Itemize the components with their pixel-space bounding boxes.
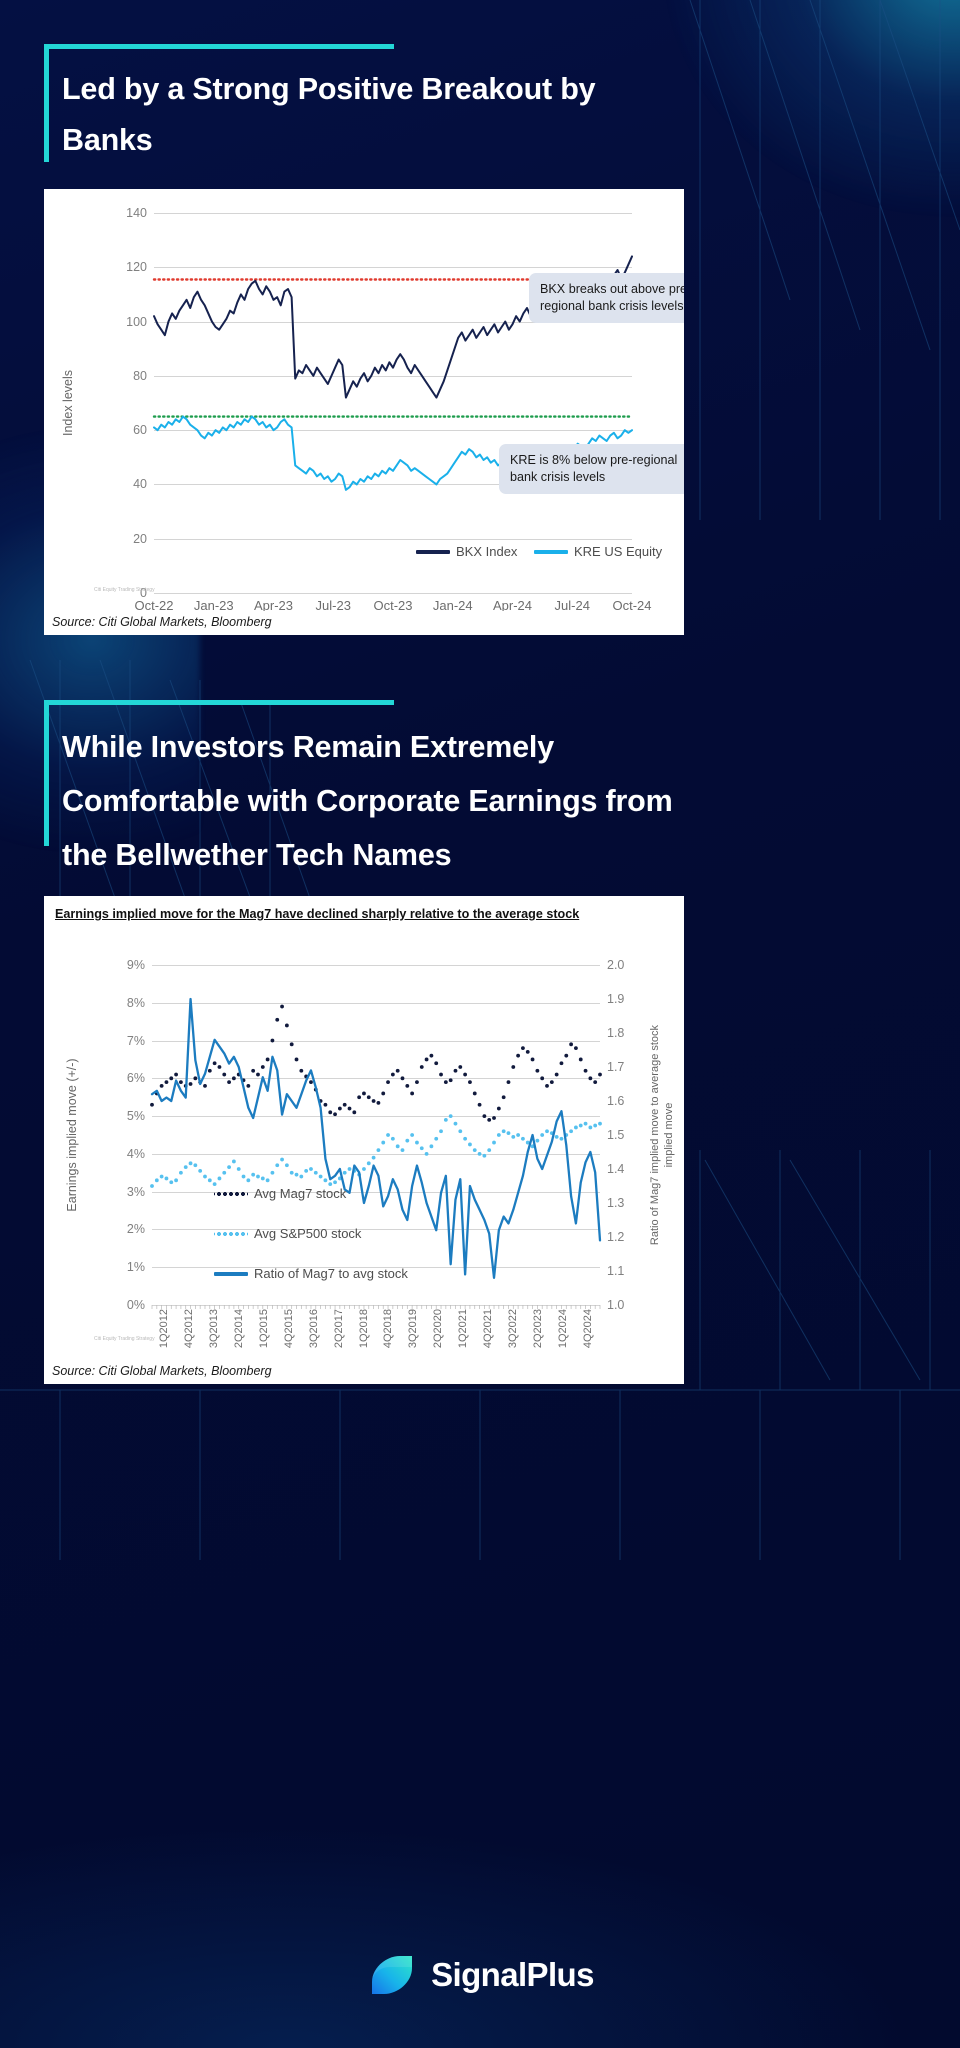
y-tick-label-right: 1.4 [607,1162,624,1176]
headline-accent-top-1 [44,44,394,49]
x-tick-label: 1Q2021 [457,1309,469,1348]
y-tick-label-right: 1.3 [607,1196,624,1210]
legend-label-avg-mag7: Avg Mag7 stock [254,1186,346,1201]
y-tick-label-right: 2.0 [607,958,624,972]
y-tick-label-right: 1.6 [607,1094,624,1108]
x-tick-label: 2Q2023 [532,1309,544,1348]
x-tick-label: 1Q2018 [358,1309,370,1348]
y-tick-label: 6% [127,1071,145,1085]
legend-label-ratio: Ratio of Mag7 to avg stock [254,1266,408,1281]
chart-card-bkx-kre: 020406080100120140 Oct-22Jan-23Apr-23Jul… [44,189,684,635]
chart-2-watermark: Citi Equity Trading Strategy [94,1336,155,1343]
legend-label-bkx: BKX Index [456,544,517,559]
y-tick-label-right: 1.8 [607,1026,624,1040]
chart-1-source: Source: Citi Global Markets, Bloomberg [44,611,684,635]
x-tick-label: 1Q2015 [258,1309,270,1348]
chart-2-y-axis-label-left: Earnings implied move (+/-) [65,1058,79,1211]
footer-brand: SignalPlus [0,1954,960,1996]
x-tick-label: 4Q2021 [482,1309,494,1348]
gridline [154,593,632,594]
chart-2-title: Earnings implied move for the Mag7 have … [44,896,684,923]
signalplus-wave-mark-icon [366,1954,418,1996]
headline-accent-top-2 [44,700,394,705]
legend-swatch-kre-icon [534,550,568,554]
y-tick-label-right: 1.5 [607,1128,624,1142]
x-tick-label: 4Q2018 [382,1309,394,1348]
x-tick-label: 2Q2020 [432,1309,444,1348]
y-tick-label: 120 [126,260,147,274]
x-tick-label: 3Q2022 [507,1309,519,1348]
y-tick-label: 2% [127,1222,145,1236]
infographic-page: Led by a Strong Positive Breakout by Ban… [0,0,960,2048]
headline-accent-left-2 [44,700,49,846]
y-tick-label: 40 [133,477,147,491]
annotation-kre-below: KRE is 8% below pre-regional bank crisis… [499,444,684,494]
x-tick-label: 1Q2012 [158,1309,170,1348]
headline-block-2: While Investors Remain Extremely Comfort… [44,700,694,882]
y-tick-label: 0% [127,1298,145,1312]
legend-item-kre: KRE US Equity [534,544,662,559]
y-tick-label-right: 1.2 [607,1230,624,1244]
headline-text-2: While Investors Remain Extremely Comfort… [62,700,702,882]
x-tick-label: 4Q2012 [183,1309,195,1348]
legend-swatch-avg-mag7-icon [214,1192,248,1196]
legend-swatch-avg-sp500-icon [214,1232,248,1236]
brand-wordmark: SignalPlus [431,1956,594,1994]
y-tick-label: 5% [127,1109,145,1123]
x-tick-label: 3Q2013 [208,1309,220,1348]
y-tick-label-right: 1.9 [607,992,624,1006]
x-tick-label: 1Q2024 [557,1309,569,1348]
y-tick-label: 3% [127,1185,145,1199]
chart-1-series-svg [154,213,632,593]
chart-2-source: Source: Citi Global Markets, Bloomberg [44,1360,684,1384]
x-tick-label: 4Q2015 [283,1309,295,1348]
x-tick-label: 4Q2024 [582,1309,594,1348]
plot-area-chart-1: 020406080100120140 Oct-22Jan-23Apr-23Jul… [154,213,632,593]
headline-block-1: Led by a Strong Positive Breakout by Ban… [44,44,684,166]
plot-area-chart-2: 0%1%2%3%4%5%6%7%8%9% 1.01.11.21.31.41.51… [152,965,600,1305]
legend-swatch-ratio-icon [214,1272,248,1276]
y-tick-label: 140 [126,206,147,220]
y-tick-label: 9% [127,958,145,972]
y-tick-label-right: 1.7 [607,1060,624,1074]
legend-item-bkx: BKX Index [416,544,517,559]
x-tick-label: 3Q2016 [308,1309,320,1348]
legend-item-avg-sp500: Avg S&P500 stock [214,1226,361,1241]
legend-item-ratio: Ratio of Mag7 to avg stock [214,1266,408,1281]
x-tick-label: 2Q2014 [233,1309,245,1348]
y-tick-label: 80 [133,369,147,383]
glow-bottom [0,1808,960,2048]
y-tick-label: 1% [127,1260,145,1274]
chart-2-y-axis-label-right: Ratio of Mag7 implied move to average st… [648,1010,676,1260]
glow-top-right [660,0,960,220]
y-tick-label-right: 1.0 [607,1298,624,1312]
headline-accent-left-1 [44,44,49,162]
legend-item-avg-mag7: Avg Mag7 stock [214,1186,346,1201]
chart-1-watermark: Citi Equity Trading Strategy [94,587,155,594]
y-tick-label: 8% [127,996,145,1010]
chart-card-mag7: Earnings implied move for the Mag7 have … [44,896,684,1384]
y-tick-label: 60 [133,423,147,437]
legend-label-avg-sp500: Avg S&P500 stock [254,1226,361,1241]
x-tick-label: 3Q2019 [407,1309,419,1348]
legend-swatch-bkx-icon [416,550,450,554]
annotation-bkx-breakout: BKX breaks out above pre-regional bank c… [529,273,684,323]
chart-1-y-axis-label: Index levels [61,370,75,436]
y-tick-label-right: 1.1 [607,1264,624,1278]
x-tick-label: 2Q2017 [333,1309,345,1348]
legend-label-kre: KRE US Equity [574,544,662,559]
y-tick-label: 20 [133,532,147,546]
y-tick-label: 7% [127,1034,145,1048]
y-tick-label: 100 [126,315,147,329]
chart-2-series-svg [152,965,600,1305]
y-tick-label: 4% [127,1147,145,1161]
headline-text-1: Led by a Strong Positive Breakout by Ban… [62,44,682,166]
